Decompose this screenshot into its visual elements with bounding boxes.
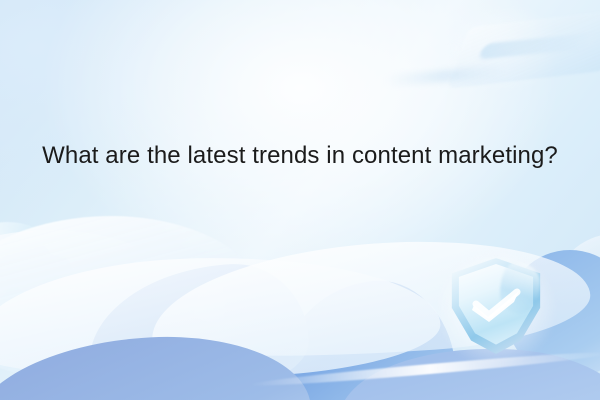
wave-highlight-streak	[250, 348, 600, 389]
keyboard-streak	[384, 65, 505, 87]
check-icon	[470, 288, 524, 322]
hero-banner: What are the latest trends in content ma…	[0, 0, 600, 400]
shield-check-badge	[448, 258, 544, 354]
wave-droplet-main	[85, 260, 311, 399]
page-title: What are the latest trends in content ma…	[0, 141, 600, 171]
globe-illustration	[0, 222, 74, 354]
globe-continent-shape	[38, 256, 64, 290]
wave-circle-back	[554, 234, 600, 354]
wave-droplet-tip	[193, 276, 229, 324]
keyboard-body-icon	[447, 9, 600, 89]
keyboard-edge-icon	[477, 32, 598, 59]
keyboard-haze	[446, 2, 566, 94]
